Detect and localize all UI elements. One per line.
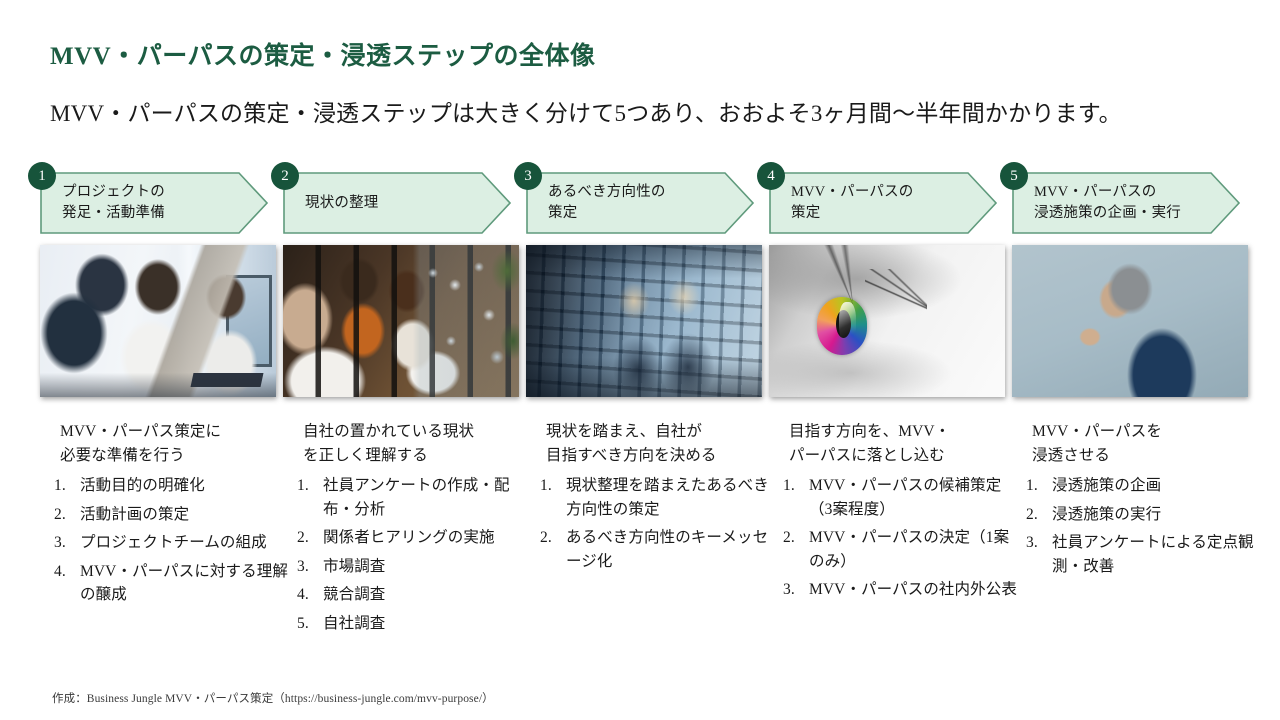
list-item-text: 社員アンケートによる定点観測・改善 — [1052, 534, 1254, 575]
process-step-4[interactable]: 4 MVV・パーパスの 策定 — [769, 172, 997, 234]
list-item: 1.MVV・パーパスの候補策定（3案程度） — [779, 474, 1019, 521]
step-photo-2 — [283, 245, 519, 397]
list-item: 3.MVV・パーパスの社内外公表 — [779, 578, 1019, 602]
list-item: 3.プロジェクトチームの組成 — [50, 531, 290, 555]
list-item-number: 2. — [783, 526, 807, 550]
list-item-number: 1. — [54, 474, 78, 498]
process-step-2[interactable]: 2 現状の整理 — [283, 172, 511, 234]
list-item-number: 1. — [297, 474, 321, 498]
list-item-number: 2. — [54, 503, 78, 527]
source-credit: 作成：Business Jungle MVV・パーパス策定（https://bu… — [52, 690, 494, 706]
list-item-text: 自社調査 — [323, 615, 385, 632]
column-lead-line2: 必要な準備を行う — [60, 447, 185, 464]
column-lead-5: MVV・パーパスを 浸透させる — [1032, 420, 1262, 467]
column-lead-line1: MVV・パーパス策定に — [60, 423, 221, 440]
photo-eyelashes-layer — [769, 245, 1005, 397]
list-item-number: 1. — [783, 474, 807, 498]
step-photo-1 — [40, 245, 276, 397]
column-lead-4: 目指す方向を、MVV・ パーパスに落とし込む — [789, 420, 1019, 467]
photo-desk-layer — [40, 245, 276, 397]
step-label-line1: MVV・パーパスの — [791, 182, 973, 203]
list-item-text: あるべき方向性のキーメッセージ化 — [566, 529, 768, 570]
list-item-text: 活動目的の明確化 — [80, 477, 205, 494]
step-label-line1: 現状の整理 — [305, 193, 487, 214]
column-lead-line1: 目指す方向を、MVV・ — [789, 423, 950, 440]
list-item: 1.浸透施策の企画 — [1022, 474, 1262, 498]
list-item-number: 3. — [54, 531, 78, 555]
step-label-line1: MVV・パーパスの — [1034, 182, 1216, 203]
list-item-number: 2. — [1026, 503, 1050, 527]
step-number-badge-2: 2 — [271, 162, 299, 190]
process-step-5[interactable]: 5 MVV・パーパスの 浸透施策の企画・実行 — [1012, 172, 1240, 234]
list-item: 2.浸透施策の実行 — [1022, 503, 1262, 527]
list-item: 2.活動計画の策定 — [50, 503, 290, 527]
column-lead-line2: 浸透させる — [1032, 447, 1110, 464]
description-column-1: MVV・パーパス策定に 必要な準備を行う 1.活動目的の明確化 2.活動計画の策… — [50, 420, 290, 612]
step-number-badge-1: 1 — [28, 162, 56, 190]
step-label-4: MVV・パーパスの 策定 — [791, 172, 973, 234]
list-item-text: MVV・パーパスの社内外公表 — [809, 581, 1017, 598]
step-label-line1: あるべき方向性の — [548, 182, 730, 203]
list-item-number: 2. — [540, 526, 564, 550]
process-steps-row: 1 プロジェクトの 発足・活動準備 2 現状の整理 3 あるべき方向性の 策定 — [40, 164, 1240, 242]
column-list-2: 1.社員アンケートの作成・配布・分析 2.関係者ヒアリングの実施 3.市場調査 … — [293, 474, 533, 635]
step-label-line1: プロジェクトの — [62, 182, 244, 203]
list-item-number: 1. — [1026, 474, 1050, 498]
photos-row — [40, 245, 1250, 400]
step-photo-3 — [526, 245, 762, 397]
list-item-text: 関係者ヒアリングの実施 — [323, 529, 495, 546]
photo-plant-layer — [283, 245, 519, 397]
step-label-line2: 策定 — [791, 203, 973, 224]
list-item-text: 現状整理を踏まえたあるべき方向性の策定 — [566, 477, 769, 518]
step-label-3: あるべき方向性の 策定 — [548, 172, 730, 234]
list-item-text: 競合調査 — [323, 586, 385, 603]
column-lead-line1: 現状を踏まえ、自社が — [546, 423, 702, 440]
list-item-text: MVV・パーパスに対する理解の醸成 — [80, 563, 288, 604]
list-item: 3.市場調査 — [293, 555, 533, 579]
column-lead-line1: MVV・パーパスを — [1032, 423, 1162, 440]
list-item-number: 3. — [1026, 531, 1050, 555]
list-item: 2.あるべき方向性のキーメッセージ化 — [536, 526, 776, 573]
list-item-text: 浸透施策の実行 — [1052, 506, 1161, 523]
column-list-1: 1.活動目的の明確化 2.活動計画の策定 3.プロジェクトチームの組成 4.MV… — [50, 474, 290, 607]
list-item: 4.MVV・パーパスに対する理解の醸成 — [50, 560, 290, 607]
list-item-number: 3. — [297, 555, 321, 579]
description-columns: MVV・パーパス策定に 必要な準備を行う 1.活動目的の明確化 2.活動計画の策… — [40, 420, 1250, 675]
list-item-text: MVV・パーパスの決定（1案のみ） — [809, 529, 1009, 570]
list-item-text: 浸透施策の企画 — [1052, 477, 1161, 494]
step-number-badge-3: 3 — [514, 162, 542, 190]
list-item-text: 活動計画の策定 — [80, 506, 189, 523]
step-label-line2: 発足・活動準備 — [62, 203, 244, 224]
step-label-line2: 策定 — [548, 203, 730, 224]
step-label-2: 現状の整理 — [305, 172, 487, 234]
step-number-badge-5: 5 — [1000, 162, 1028, 190]
list-item-text: MVV・パーパスの候補策定（3案程度） — [809, 477, 1001, 518]
list-item-text: 社員アンケートの作成・配布・分析 — [323, 477, 510, 518]
column-list-3: 1.現状整理を踏まえたあるべき方向性の策定 2.あるべき方向性のキーメッセージ化 — [536, 474, 776, 573]
step-number-badge-4: 4 — [757, 162, 785, 190]
description-column-4: 目指す方向を、MVV・ パーパスに落とし込む 1.MVV・パーパスの候補策定（3… — [779, 420, 1019, 607]
list-item-number: 2. — [297, 526, 321, 550]
column-lead-3: 現状を踏まえ、自社が 目指すべき方向を決める — [546, 420, 776, 467]
step-label-line2: 浸透施策の企画・実行 — [1034, 203, 1216, 224]
step-label-1: プロジェクトの 発足・活動準備 — [62, 172, 244, 234]
list-item: 5.自社調査 — [293, 612, 533, 636]
column-lead-1: MVV・パーパス策定に 必要な準備を行う — [60, 420, 290, 467]
column-lead-line2: パーパスに落とし込む — [789, 447, 945, 464]
step-photo-4 — [769, 245, 1005, 397]
list-item-number: 4. — [54, 560, 78, 584]
list-item-text: 市場調査 — [323, 558, 385, 575]
column-lead-line2: 目指すべき方向を決める — [546, 447, 717, 464]
process-step-1[interactable]: 1 プロジェクトの 発足・活動準備 — [40, 172, 268, 234]
description-column-2: 自社の置かれている現状 を正しく理解する 1.社員アンケートの作成・配布・分析 … — [293, 420, 533, 640]
column-lead-2: 自社の置かれている現状 を正しく理解する — [303, 420, 533, 467]
list-item-number: 4. — [297, 583, 321, 607]
column-list-5: 1.浸透施策の企画 2.浸透施策の実行 3.社員アンケートによる定点観測・改善 — [1022, 474, 1262, 578]
process-step-3[interactable]: 3 あるべき方向性の 策定 — [526, 172, 754, 234]
photo-vignette-layer — [526, 245, 762, 397]
description-column-3: 現状を踏まえ、自社が 目指すべき方向を決める 1.現状整理を踏まえたあるべき方向… — [536, 420, 776, 578]
list-item: 4.競合調査 — [293, 583, 533, 607]
page-subtitle: MVV・パーパスの策定・浸透ステップは大きく分けて5つあり、おおよそ3ヶ月間〜半… — [50, 94, 1122, 128]
step-label-5: MVV・パーパスの 浸透施策の企画・実行 — [1034, 172, 1216, 234]
list-item-text: プロジェクトチームの組成 — [80, 534, 267, 551]
column-lead-line1: 自社の置かれている現状 — [303, 423, 474, 440]
list-item: 2.MVV・パーパスの決定（1案のみ） — [779, 526, 1019, 573]
list-item: 1.現状整理を踏まえたあるべき方向性の策定 — [536, 474, 776, 521]
description-column-5: MVV・パーパスを 浸透させる 1.浸透施策の企画 2.浸透施策の実行 3.社員… — [1022, 420, 1262, 583]
column-lead-line2: を正しく理解する — [303, 447, 428, 464]
list-item-number: 5. — [297, 612, 321, 636]
step-photo-5 — [1012, 245, 1248, 397]
list-item-number: 3. — [783, 578, 807, 602]
list-item-number: 1. — [540, 474, 564, 498]
column-list-4: 1.MVV・パーパスの候補策定（3案程度） 2.MVV・パーパスの決定（1案のみ… — [779, 474, 1019, 602]
list-item: 1.活動目的の明確化 — [50, 474, 290, 498]
list-item: 1.社員アンケートの作成・配布・分析 — [293, 474, 533, 521]
list-item: 2.関係者ヒアリングの実施 — [293, 526, 533, 550]
list-item: 3.社員アンケートによる定点観測・改善 — [1022, 531, 1262, 578]
page-title: MVV・パーパスの策定・浸透ステップの全体像 — [50, 36, 595, 72]
